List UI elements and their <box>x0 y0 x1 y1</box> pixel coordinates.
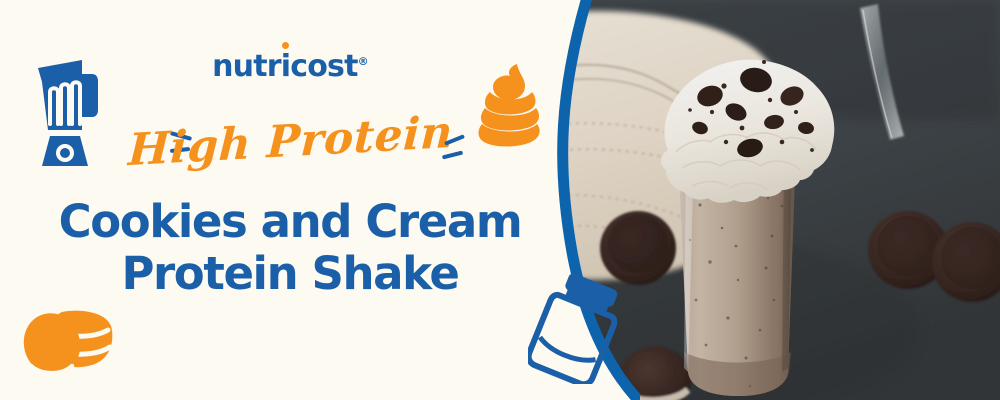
whipped-cream-icon <box>477 62 543 148</box>
registered-trademark-icon: ® <box>358 55 368 68</box>
title-line-2: Protein Shake <box>0 248 580 300</box>
sandwich-cookies-icon <box>18 300 118 384</box>
banner-content: nutricost® High Protein Cookies and Crea… <box>0 0 620 400</box>
blender-icon <box>34 58 106 170</box>
brand-name-part2: cost <box>290 49 357 84</box>
recipe-banner: nutricost® High Protein Cookies and Crea… <box>0 0 1000 400</box>
page-title: Cookies and Cream Protein Shake <box>0 196 580 300</box>
recipe-photo <box>560 0 1000 400</box>
brand-name-part1: nutr <box>212 49 281 84</box>
title-line-1: Cookies and Cream <box>59 195 522 248</box>
protein-tub-icon <box>528 272 624 384</box>
high-protein-kicker: High Protein <box>127 109 454 176</box>
brand-name-i: i <box>281 49 290 84</box>
sparkle-ticks-right-icon <box>440 133 474 173</box>
